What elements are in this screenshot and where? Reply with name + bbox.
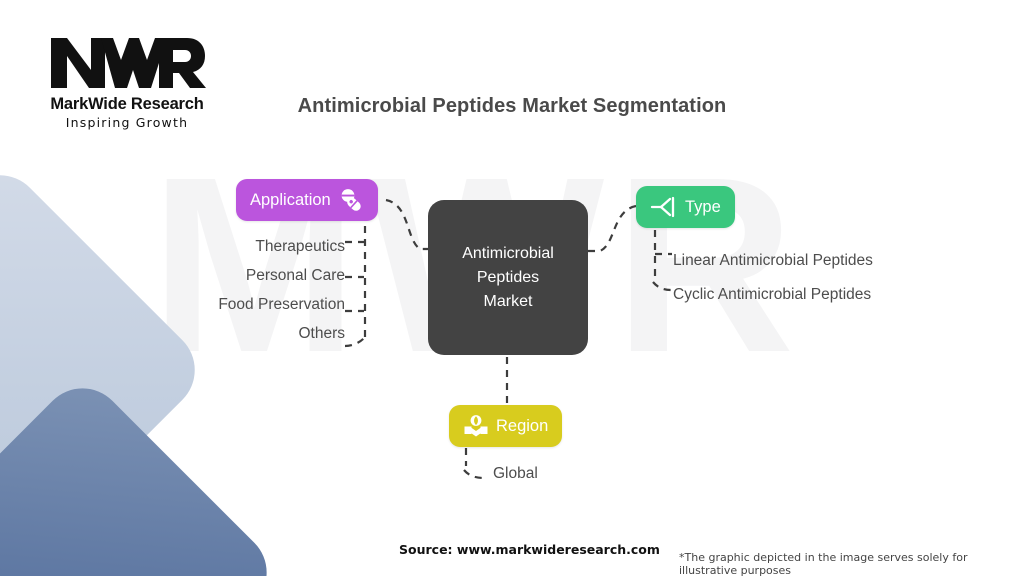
logo-mark-icon (32, 30, 222, 97)
center-node-line-1: Antimicrobial (462, 242, 554, 266)
leaf-item-global: Global (493, 465, 538, 483)
pills-icon (338, 188, 364, 212)
source-text: Source: www.markwideresearch.com (399, 542, 660, 557)
branch-badge-region[interactable]: Region (449, 405, 562, 447)
infographic-canvas: MWR MarkWide Research Inspiring Growth A… (0, 0, 1024, 576)
leaf-list-type: Linear Antimicrobial Peptides Cyclic Ant… (673, 244, 873, 312)
disclaimer-text: *The graphic depicted in the image serve… (679, 551, 1024, 576)
branch-badge-application[interactable]: Application (236, 179, 378, 221)
center-node-line-3: Market (462, 290, 554, 314)
branch-label-region: Region (496, 417, 548, 436)
branch-label-type: Type (685, 198, 721, 217)
page-title: Antimicrobial Peptides Market Segmentati… (0, 95, 1024, 118)
leaf-item: Cyclic Antimicrobial Peptides (673, 278, 873, 312)
branch-fork-icon (650, 195, 678, 219)
center-node-label: Antimicrobial Peptides Market (462, 242, 554, 314)
leaf-item: Therapeutics (0, 232, 345, 261)
leaf-item: Linear Antimicrobial Peptides (673, 244, 873, 278)
center-node-line-2: Peptides (462, 266, 554, 290)
leaf-list-application: Therapeutics Personal Care Food Preserva… (0, 232, 345, 348)
leaf-item: Food Preservation (0, 290, 345, 319)
branch-badge-type[interactable]: Type (636, 186, 735, 228)
center-node: Antimicrobial Peptides Market (428, 200, 588, 355)
handshake-globe-icon (463, 414, 489, 438)
leaf-item: Others (0, 319, 345, 348)
branch-label-application: Application (250, 191, 331, 210)
leaf-item: Personal Care (0, 261, 345, 290)
